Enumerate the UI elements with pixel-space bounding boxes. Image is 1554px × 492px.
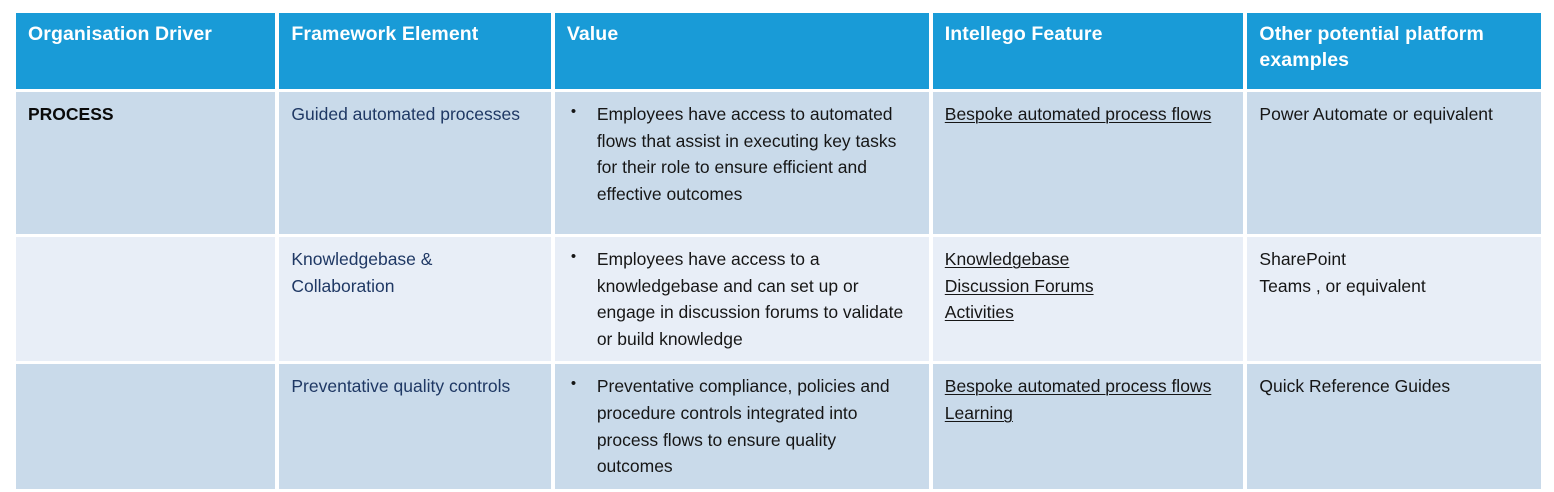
cell-framework-element: Guided automated processes (279, 92, 550, 234)
cell-framework-element: Preventative quality controls (279, 364, 550, 488)
table-header: Organisation Driver Framework Element Va… (16, 13, 1541, 89)
column-header-other-potential-platform-examples: Other potential platform examples (1247, 13, 1541, 89)
feature-link[interactable]: Learning (945, 403, 1013, 423)
feature-link-list: Bespoke automated process flows (945, 101, 1232, 128)
feature-link[interactable]: Bespoke automated process flows (945, 376, 1212, 396)
organisation-driver-label: PROCESS (28, 104, 114, 124)
table-row: PROCESS Guided automated processes Emplo… (16, 92, 1541, 234)
framework-element-label: Preventative quality controls (291, 376, 510, 396)
cell-other-platform-examples: SharePoint Teams , or equivalent (1247, 237, 1541, 361)
feature-link[interactable]: Bespoke automated process flows (945, 104, 1212, 124)
feature-list-item: Bespoke automated process flows (945, 101, 1232, 128)
other-platform-item: SharePoint (1259, 246, 1529, 273)
feature-list-item: Activities (945, 299, 1232, 326)
feature-list-item: Bespoke automated process flows (945, 373, 1232, 400)
other-platform-list: Quick Reference Guides (1259, 373, 1529, 400)
cell-other-platform-examples: Quick Reference Guides (1247, 364, 1541, 488)
value-bullet-item: Employees have access to a knowledgebase… (567, 246, 917, 352)
feature-list-item: Learning (945, 400, 1232, 427)
value-bullet-item: Employees have access to automated flows… (567, 101, 917, 207)
feature-link[interactable]: Activities (945, 302, 1014, 322)
cell-value: Employees have access to automated flows… (555, 92, 929, 234)
cell-intellego-feature: Bespoke automated process flows (933, 92, 1244, 234)
value-bullet-list: Employees have access to a knowledgebase… (567, 246, 917, 352)
table-row: Preventative quality controls Preventati… (16, 364, 1541, 488)
other-platform-item: Quick Reference Guides (1259, 373, 1529, 400)
framework-element-label: Knowledgebase & Collaboration (291, 249, 432, 296)
value-bullet-list: Employees have access to automated flows… (567, 101, 917, 207)
feature-link[interactable]: Knowledgebase (945, 249, 1070, 269)
cell-organisation-driver (16, 237, 275, 361)
feature-list-item: Discussion Forums (945, 273, 1232, 300)
feature-link[interactable]: Discussion Forums (945, 276, 1094, 296)
table-header-row: Organisation Driver Framework Element Va… (16, 13, 1541, 89)
cell-other-platform-examples: Power Automate or equivalent (1247, 92, 1541, 234)
cell-organisation-driver (16, 364, 275, 488)
framework-element-label: Guided automated processes (291, 104, 520, 124)
cell-intellego-feature: Knowledgebase Discussion Forums Activiti… (933, 237, 1244, 361)
cell-value: Preventative compliance, policies and pr… (555, 364, 929, 488)
other-platform-item: Power Automate or equivalent (1259, 101, 1529, 128)
column-header-intellego-feature: Intellego Feature (933, 13, 1244, 89)
other-platform-list: SharePoint Teams , or equivalent (1259, 246, 1529, 299)
feature-link-list: Knowledgebase Discussion Forums Activiti… (945, 246, 1232, 326)
feature-link-list: Bespoke automated process flows Learning (945, 373, 1232, 426)
framework-matrix-table: Organisation Driver Framework Element Va… (12, 10, 1545, 492)
table-row: Knowledgebase & Collaboration Employees … (16, 237, 1541, 361)
cell-framework-element: Knowledgebase & Collaboration (279, 237, 550, 361)
table-body: PROCESS Guided automated processes Emplo… (16, 92, 1541, 489)
value-bullet-list: Preventative compliance, policies and pr… (567, 373, 917, 479)
cell-value: Employees have access to a knowledgebase… (555, 237, 929, 361)
column-header-organisation-driver: Organisation Driver (16, 13, 275, 89)
other-platform-item: Teams , or equivalent (1259, 273, 1529, 300)
cell-organisation-driver: PROCESS (16, 92, 275, 234)
column-header-framework-element: Framework Element (279, 13, 550, 89)
cell-intellego-feature: Bespoke automated process flows Learning (933, 364, 1244, 488)
feature-list-item: Knowledgebase (945, 246, 1232, 273)
value-bullet-item: Preventative compliance, policies and pr… (567, 373, 917, 479)
framework-matrix-container: Organisation Driver Framework Element Va… (12, 10, 1545, 492)
other-platform-list: Power Automate or equivalent (1259, 101, 1529, 128)
column-header-value: Value (555, 13, 929, 89)
